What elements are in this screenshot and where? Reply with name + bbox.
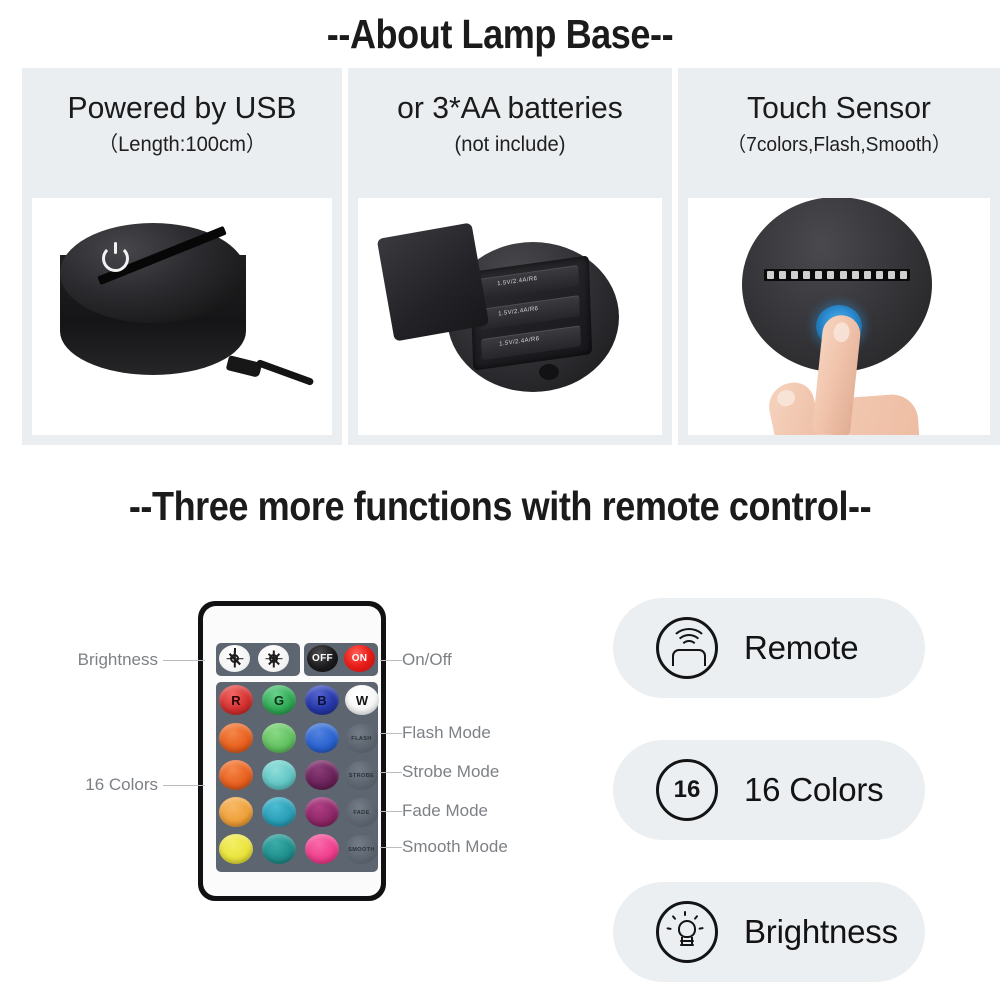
battery-slot: 1.5V/2.4A/R6 bbox=[481, 325, 581, 360]
bulb-base-line bbox=[680, 940, 694, 942]
power-symbol-icon bbox=[102, 245, 129, 272]
led-dot bbox=[864, 271, 871, 279]
color-button-orange[interactable] bbox=[219, 760, 253, 790]
power-on-button[interactable]: ON bbox=[344, 645, 375, 672]
color-button-magenta-purple[interactable] bbox=[305, 797, 339, 827]
card-powered-by-usb: Powered by USB （Length:100cm） bbox=[22, 68, 342, 445]
callout-brightness: Brightness bbox=[28, 650, 158, 670]
leader-line-on-off bbox=[380, 660, 402, 661]
leader-line-fade-mode bbox=[380, 811, 402, 812]
card-photo-touch-sensor bbox=[688, 198, 990, 435]
color-button-pink[interactable] bbox=[305, 834, 339, 864]
color-button-teal-blue[interactable] bbox=[262, 797, 296, 827]
color-button-light-orange[interactable] bbox=[219, 797, 253, 827]
leader-line-smooth-mode bbox=[380, 847, 402, 848]
led-dot bbox=[803, 271, 810, 279]
usb-cable bbox=[227, 355, 313, 389]
battery-slot: 1.5V/2.4A/R6 bbox=[480, 295, 580, 330]
bulb-ray bbox=[694, 915, 699, 920]
thumbnail bbox=[776, 388, 797, 407]
bulb-ray bbox=[684, 911, 686, 916]
leader-line-16-colors bbox=[163, 785, 205, 786]
led-strip bbox=[764, 269, 910, 281]
bulb-glass bbox=[678, 920, 696, 938]
touch-sensor-illustration bbox=[714, 198, 964, 427]
leader-line-brightness bbox=[163, 660, 205, 661]
feature-pill-brightness: Brightness bbox=[613, 882, 925, 982]
card-title: Powered by USB bbox=[37, 90, 328, 126]
card-title: Touch Sensor bbox=[693, 90, 986, 126]
color-button-red[interactable]: R bbox=[219, 685, 253, 715]
color-button-light-green[interactable] bbox=[262, 723, 296, 753]
lamp-base-top-surface bbox=[60, 223, 246, 323]
sun-icon bbox=[269, 654, 278, 663]
led-dot bbox=[767, 271, 774, 279]
led-dot bbox=[876, 271, 883, 279]
feature-pill-label: Brightness bbox=[744, 913, 898, 951]
smooth-mode-button[interactable]: SMOOTH bbox=[345, 835, 378, 864]
callout-16-colors: 16 Colors bbox=[28, 775, 158, 795]
bulb-ray bbox=[672, 915, 677, 920]
battery-slot-label: 1.5V/2.4A/R6 bbox=[499, 336, 539, 348]
feature-pill-label: 16 Colors bbox=[744, 771, 883, 809]
callout-on-off: On/Off bbox=[402, 650, 452, 670]
card-subtitle: （7colors,Flash,Smooth） bbox=[694, 130, 984, 160]
color-button-white[interactable]: W bbox=[345, 685, 379, 715]
card-subtitle: (not include) bbox=[364, 130, 656, 160]
brightness-up-button[interactable] bbox=[219, 645, 250, 672]
usb-wire bbox=[256, 358, 315, 385]
bulb-ray bbox=[698, 927, 703, 930]
battery-slot: 1.5V/2.4A/R6 bbox=[479, 264, 579, 299]
card-header: Touch Sensor （7colors,Flash,Smooth） bbox=[688, 78, 990, 160]
sixteen-circle-icon: 16 bbox=[656, 759, 718, 821]
bulb-ray bbox=[666, 927, 671, 930]
remote-signal-icon bbox=[656, 617, 718, 679]
sixteen-badge-number: 16 bbox=[659, 762, 715, 818]
signal-base bbox=[672, 649, 706, 666]
remote-faceplate: OFF ON R G B W FLASH STROBE FADE SMOOTH bbox=[203, 606, 381, 896]
led-dot bbox=[900, 271, 907, 279]
card-photo-battery-compartment: 1.5V/2.4A/R6 1.5V/2.4A/R6 1.5V/2.4A/R6 bbox=[358, 198, 662, 435]
color-button-blue[interactable]: B bbox=[305, 685, 339, 715]
battery-well: 1.5V/2.4A/R6 1.5V/2.4A/R6 1.5V/2.4A/R6 bbox=[470, 255, 592, 370]
color-button-medium-blue[interactable] bbox=[305, 723, 339, 753]
callout-smooth-mode: Smooth Mode bbox=[402, 837, 508, 857]
lamp-base-usb-illustration bbox=[52, 217, 312, 417]
callout-fade-mode: Fade Mode bbox=[402, 801, 488, 821]
led-dot bbox=[852, 271, 859, 279]
power-off-button[interactable]: OFF bbox=[307, 645, 338, 672]
flash-mode-button[interactable]: FLASH bbox=[345, 724, 378, 753]
leader-line-flash-mode bbox=[380, 733, 402, 734]
battery-slot-label: 1.5V/2.4A/R6 bbox=[498, 305, 538, 317]
callout-flash-mode: Flash Mode bbox=[402, 723, 491, 743]
callout-strobe-mode: Strobe Mode bbox=[402, 762, 499, 782]
color-button-green[interactable]: G bbox=[262, 685, 296, 715]
battery-compartment-illustration: 1.5V/2.4A/R6 1.5V/2.4A/R6 1.5V/2.4A/R6 bbox=[385, 222, 635, 412]
remote-control[interactable]: OFF ON R G B W FLASH STROBE FADE SMOOTH bbox=[198, 601, 386, 901]
card-touch-sensor: Touch Sensor （7colors,Flash,Smooth） bbox=[678, 68, 1000, 445]
card-title: or 3*AA batteries bbox=[363, 90, 658, 126]
color-button-dark-purple[interactable] bbox=[305, 760, 339, 790]
card-photo-usb-base bbox=[32, 198, 332, 435]
brightness-down-button[interactable] bbox=[258, 645, 289, 672]
card-aa-batteries: or 3*AA batteries (not include) 1.5V/2.4… bbox=[348, 68, 672, 445]
page-title-lamp-base: --About Lamp Base-- bbox=[60, 10, 940, 58]
page-title-remote-functions: --Three more functions with remote contr… bbox=[60, 482, 940, 530]
strobe-mode-button[interactable]: STROBE bbox=[345, 761, 378, 790]
led-dot bbox=[815, 271, 822, 279]
lightbulb-icon bbox=[656, 901, 718, 963]
led-dot bbox=[840, 271, 847, 279]
bulb-base-line bbox=[680, 944, 694, 946]
card-subtitle: （Length:100cm） bbox=[38, 130, 326, 160]
color-button-dark-teal[interactable] bbox=[262, 834, 296, 864]
led-dot bbox=[779, 271, 786, 279]
color-button-turquoise[interactable] bbox=[262, 760, 296, 790]
feature-pill-16-colors: 16 16 Colors bbox=[613, 740, 925, 840]
battery-slot-label: 1.5V/2.4A/R6 bbox=[497, 275, 537, 287]
color-button-yellow[interactable] bbox=[219, 834, 253, 864]
fade-mode-button[interactable]: FADE bbox=[345, 798, 378, 827]
led-dot bbox=[888, 271, 895, 279]
color-button-orange-red[interactable] bbox=[219, 723, 253, 753]
fingernail bbox=[832, 321, 850, 343]
feature-pill-remote: Remote bbox=[613, 598, 925, 698]
leader-line-strobe-mode bbox=[380, 772, 402, 773]
card-header: Powered by USB （Length:100cm） bbox=[32, 78, 332, 160]
rubber-foot bbox=[539, 364, 559, 380]
led-dot bbox=[791, 271, 798, 279]
feature-pill-label: Remote bbox=[744, 629, 858, 667]
card-header: or 3*AA batteries (not include) bbox=[358, 78, 662, 160]
led-dot bbox=[827, 271, 834, 279]
sun-icon bbox=[230, 654, 239, 663]
battery-cover-lid bbox=[377, 222, 490, 341]
